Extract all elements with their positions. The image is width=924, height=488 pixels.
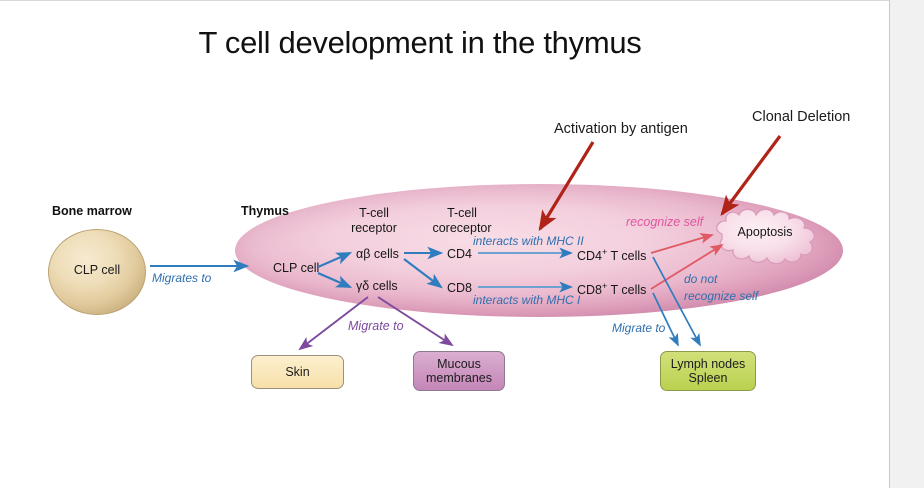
- migrate-to-blue-label: Migrate to: [612, 321, 665, 335]
- migrates-to-label: Migrates to: [152, 271, 211, 285]
- clp-cell-bone-marrow: CLP cell: [48, 229, 146, 315]
- callout-clonal-deletion: Clonal Deletion: [752, 109, 850, 125]
- cd4-node: CD4: [447, 247, 472, 261]
- output-box-lymph-nodes-spleen: Lymph nodes Spleen: [660, 351, 756, 391]
- gamma-delta-cells-node: γδ cells: [356, 279, 398, 293]
- interacts-with-mhc1-label: interacts with MHC I: [473, 293, 580, 307]
- clp-cell-thymus: CLP cell: [273, 261, 319, 275]
- recognize-self-label: recognize self: [626, 215, 703, 229]
- migrate-to-purple-label: Migrate to: [348, 319, 404, 333]
- interacts-with-mhc2-label: interacts with MHC II: [473, 234, 584, 248]
- thymus-label: Thymus: [241, 204, 289, 218]
- do-not-recognize-self-label: do not recognize self: [684, 271, 758, 305]
- mucous-membranes-label: Mucous membranes: [426, 357, 492, 385]
- alpha-beta-cells-node: αβ cells: [356, 247, 399, 261]
- cd4-positive-tcells-node: CD4+ T cells: [577, 247, 646, 263]
- tcell-coreceptor-header: T-cell coreceptor: [412, 206, 512, 236]
- callout-activation-by-antigen: Activation by antigen: [554, 121, 688, 137]
- bone-marrow-label: Bone marrow: [52, 204, 132, 218]
- screenshot-canvas: T cell development in the thymus Activat…: [0, 0, 924, 488]
- apoptosis-label: Apoptosis: [706, 225, 824, 239]
- skin-label: Skin: [285, 365, 309, 379]
- slide-surface: T cell development in the thymus Activat…: [0, 0, 890, 488]
- cd8-node: CD8: [447, 281, 472, 295]
- output-box-mucous-membranes: Mucous membranes: [413, 351, 505, 391]
- cd8-positive-tcells-node: CD8+ T cells: [577, 281, 646, 297]
- tcell-receptor-header: T-cell receptor: [330, 206, 418, 236]
- clp-cell-bone-marrow-label: CLP cell: [49, 263, 145, 277]
- output-box-skin: Skin: [251, 355, 344, 389]
- lymph-nodes-spleen-label: Lymph nodes Spleen: [671, 357, 746, 385]
- page-title: T cell development in the thymus: [140, 23, 700, 63]
